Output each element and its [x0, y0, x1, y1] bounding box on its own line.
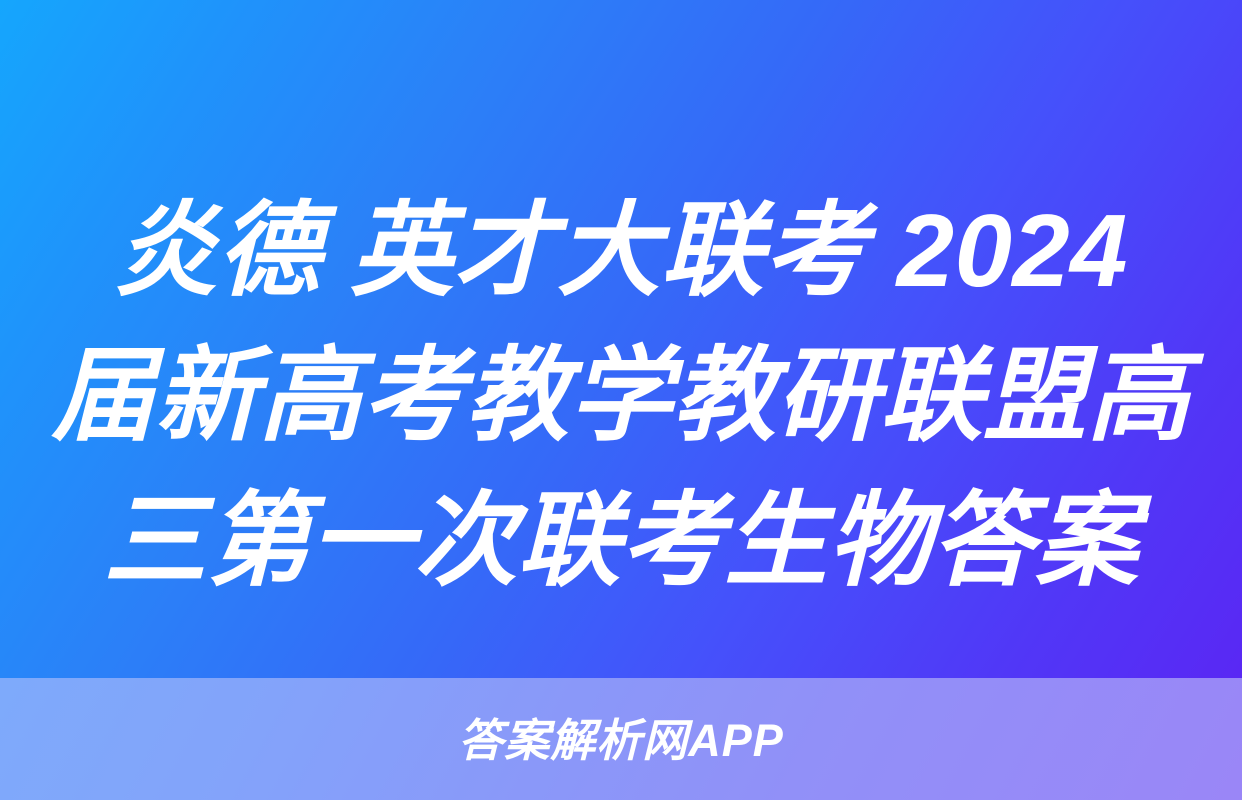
poster-title: 炎德 英才大联考 2024 届新高考教学教研联盟高 三第一次联考生物答案: [0, 178, 1242, 613]
title-line-1: 炎德 英才大联考 2024: [40, 178, 1202, 323]
footer-watermark-band: 答案解析网APP: [0, 678, 1242, 800]
title-line-3: 三第一次联考生物答案: [40, 468, 1202, 613]
poster-canvas: 炎德 英才大联考 2024 届新高考教学教研联盟高 三第一次联考生物答案 答案解…: [0, 0, 1242, 800]
app-watermark-label: 答案解析网APP: [458, 718, 784, 763]
title-line-2: 届新高考教学教研联盟高: [40, 323, 1202, 468]
